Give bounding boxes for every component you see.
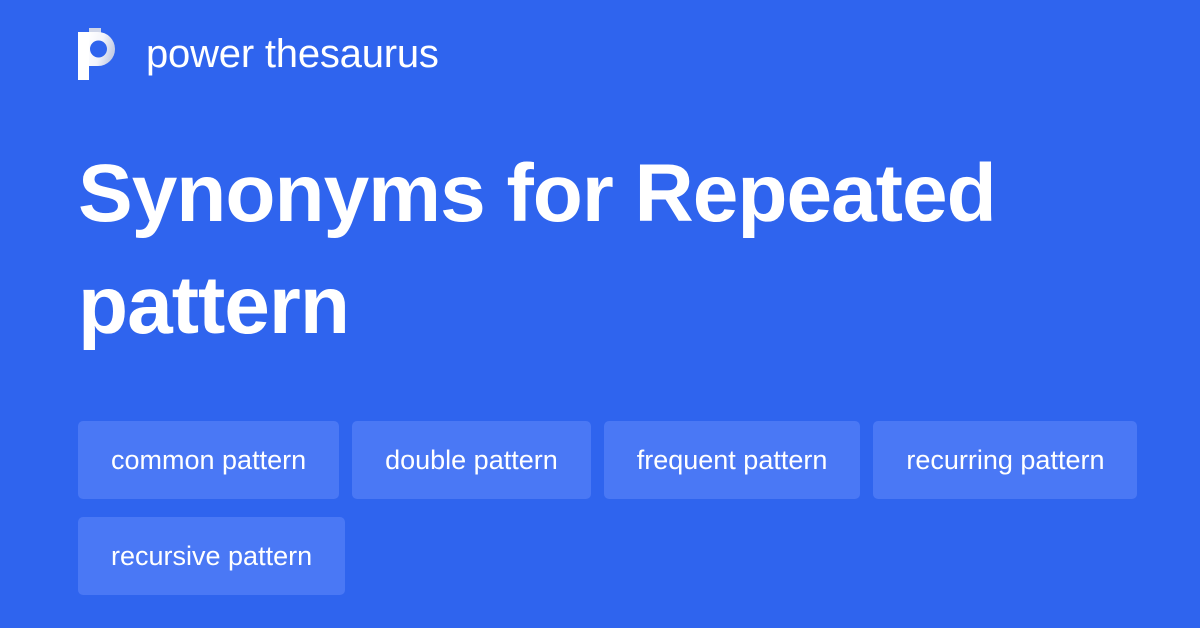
synonym-chip[interactable]: recurring pattern bbox=[873, 421, 1137, 499]
synonym-chip[interactable]: double pattern bbox=[352, 421, 591, 499]
brand-header[interactable]: power thesaurus bbox=[78, 28, 439, 80]
synonyms-share-card: power thesaurus Synonyms for Repeated pa… bbox=[0, 0, 1200, 628]
synonym-chip[interactable]: common pattern bbox=[78, 421, 339, 499]
power-thesaurus-b-logo-icon bbox=[78, 28, 124, 80]
brand-name: power thesaurus bbox=[146, 34, 439, 74]
synonym-chip[interactable]: frequent pattern bbox=[604, 421, 861, 499]
page-title: Synonyms for Repeated pattern bbox=[78, 138, 1128, 362]
synonym-chip-list: common pattern double pattern frequent p… bbox=[78, 421, 1138, 595]
synonym-chip[interactable]: recursive pattern bbox=[78, 517, 345, 595]
